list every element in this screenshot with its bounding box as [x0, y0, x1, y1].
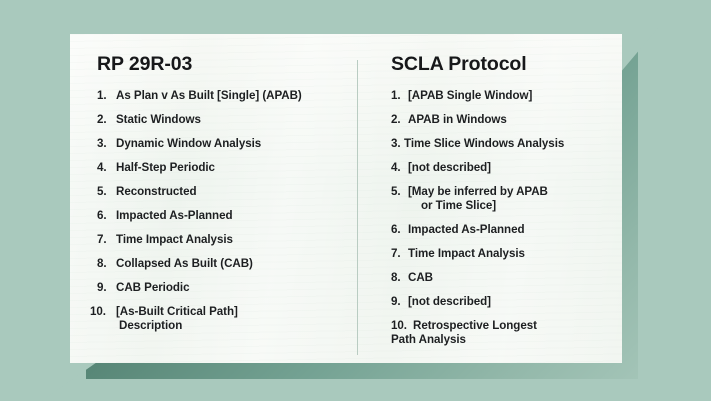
- list-item-text: Static Windows: [116, 113, 348, 127]
- list-item: 8. CAB: [391, 271, 612, 285]
- list-item-continuation: Description: [116, 319, 348, 333]
- list-item: 9. CAB Periodic: [97, 281, 348, 295]
- list-item: 3. Time Slice Windows Analysis: [391, 137, 612, 151]
- list-item: 10. Retrospective LongestPath Analysis: [391, 319, 612, 347]
- list-item-number: 2.: [391, 113, 408, 127]
- list-item-number: 10.: [90, 305, 116, 319]
- list-item-text: Reconstructed: [116, 185, 348, 199]
- list-item-number: 7.: [97, 233, 116, 247]
- left-column-title: RP 29R-03: [97, 53, 348, 76]
- list-item-number: 8.: [97, 257, 116, 271]
- comparison-card: RP 29R-03 1. As Plan v As Built [Single]…: [70, 34, 622, 363]
- list-item-text: Dynamic Window Analysis: [116, 137, 348, 151]
- list-item: 5. [May be inferred by APABor Time Slice…: [391, 185, 612, 213]
- list-item-number: 6.: [391, 223, 408, 237]
- list-item-text: Impacted As-Planned: [116, 209, 348, 223]
- list-item-number: 3.: [391, 137, 404, 151]
- list-item-text: Retrospective LongestPath Analysis: [413, 319, 612, 347]
- list-item-text: APAB in Windows: [408, 113, 612, 127]
- shadow-bevel-bottom-left: [40, 360, 100, 401]
- list-item: 1. As Plan v As Built [Single] (APAB): [97, 89, 348, 103]
- list-item-text: [not described]: [408, 295, 612, 309]
- list-item-text: [APAB Single Window]: [408, 89, 612, 103]
- slide-canvas: RP 29R-03 1. As Plan v As Built [Single]…: [0, 0, 711, 401]
- list-item-text: [As-Built Critical Path]Description: [116, 305, 348, 333]
- list-item-number: 9.: [97, 281, 116, 295]
- list-item-continuation: Path Analysis: [391, 333, 612, 347]
- list-item-text: CAB: [408, 271, 612, 285]
- list-item-number: 4.: [97, 161, 116, 175]
- list-item-number: 7.: [391, 247, 408, 261]
- list-item-number: 2.: [97, 113, 116, 127]
- list-item: 1. [APAB Single Window]: [391, 89, 612, 103]
- list-item: 8. Collapsed As Built (CAB): [97, 257, 348, 271]
- list-item: 10. [As-Built Critical Path]Description: [97, 305, 348, 333]
- list-item: 7. Time Impact Analysis: [391, 247, 612, 261]
- list-item-number: 5.: [391, 185, 408, 199]
- list-item-continuation: or Time Slice]: [408, 199, 612, 213]
- list-item: 9. [not described]: [391, 295, 612, 309]
- list-item: 6. Impacted As-Planned: [391, 223, 612, 237]
- list-item-number: 9.: [391, 295, 408, 309]
- left-column-list: 1. As Plan v As Built [Single] (APAB) 2.…: [97, 89, 348, 333]
- list-item-text: CAB Periodic: [116, 281, 348, 295]
- list-item-text: Time Slice Windows Analysis: [404, 137, 612, 151]
- list-item-number: 1.: [97, 89, 116, 103]
- list-item-text: Time Impact Analysis: [408, 247, 612, 261]
- list-item-number: 4.: [391, 161, 408, 175]
- list-item: 7. Time Impact Analysis: [97, 233, 348, 247]
- list-item-text: [not described]: [408, 161, 612, 175]
- list-item: 5. Reconstructed: [97, 185, 348, 199]
- list-item-text: Time Impact Analysis: [116, 233, 348, 247]
- right-column-list: 1. [APAB Single Window] 2. APAB in Windo…: [391, 89, 612, 347]
- comparison-columns: RP 29R-03 1. As Plan v As Built [Single]…: [70, 34, 622, 363]
- column-scla-protocol: SCLA Protocol 1. [APAB Single Window] 2.…: [358, 34, 622, 363]
- list-item-number: 10.: [391, 319, 413, 333]
- list-item: 4. Half-Step Periodic: [97, 161, 348, 175]
- list-item-text: Half-Step Periodic: [116, 161, 348, 175]
- list-item-number: 6.: [97, 209, 116, 223]
- list-item-number: 5.: [97, 185, 116, 199]
- column-rp-29r-03: RP 29R-03 1. As Plan v As Built [Single]…: [70, 34, 358, 363]
- list-item-text: Collapsed As Built (CAB): [116, 257, 348, 271]
- list-item: 4. [not described]: [391, 161, 612, 175]
- list-item: 2. APAB in Windows: [391, 113, 612, 127]
- list-item-text: [May be inferred by APABor Time Slice]: [408, 185, 612, 213]
- right-column-title: SCLA Protocol: [391, 53, 612, 76]
- list-item-number: 8.: [391, 271, 408, 285]
- list-item-number: 1.: [391, 89, 408, 103]
- column-divider: [357, 60, 358, 355]
- list-item-text: As Plan v As Built [Single] (APAB): [116, 89, 348, 103]
- list-item-number: 3.: [97, 137, 116, 151]
- list-item-text: Impacted As-Planned: [408, 223, 612, 237]
- list-item: 3. Dynamic Window Analysis: [97, 137, 348, 151]
- list-item: 6. Impacted As-Planned: [97, 209, 348, 223]
- list-item: 2. Static Windows: [97, 113, 348, 127]
